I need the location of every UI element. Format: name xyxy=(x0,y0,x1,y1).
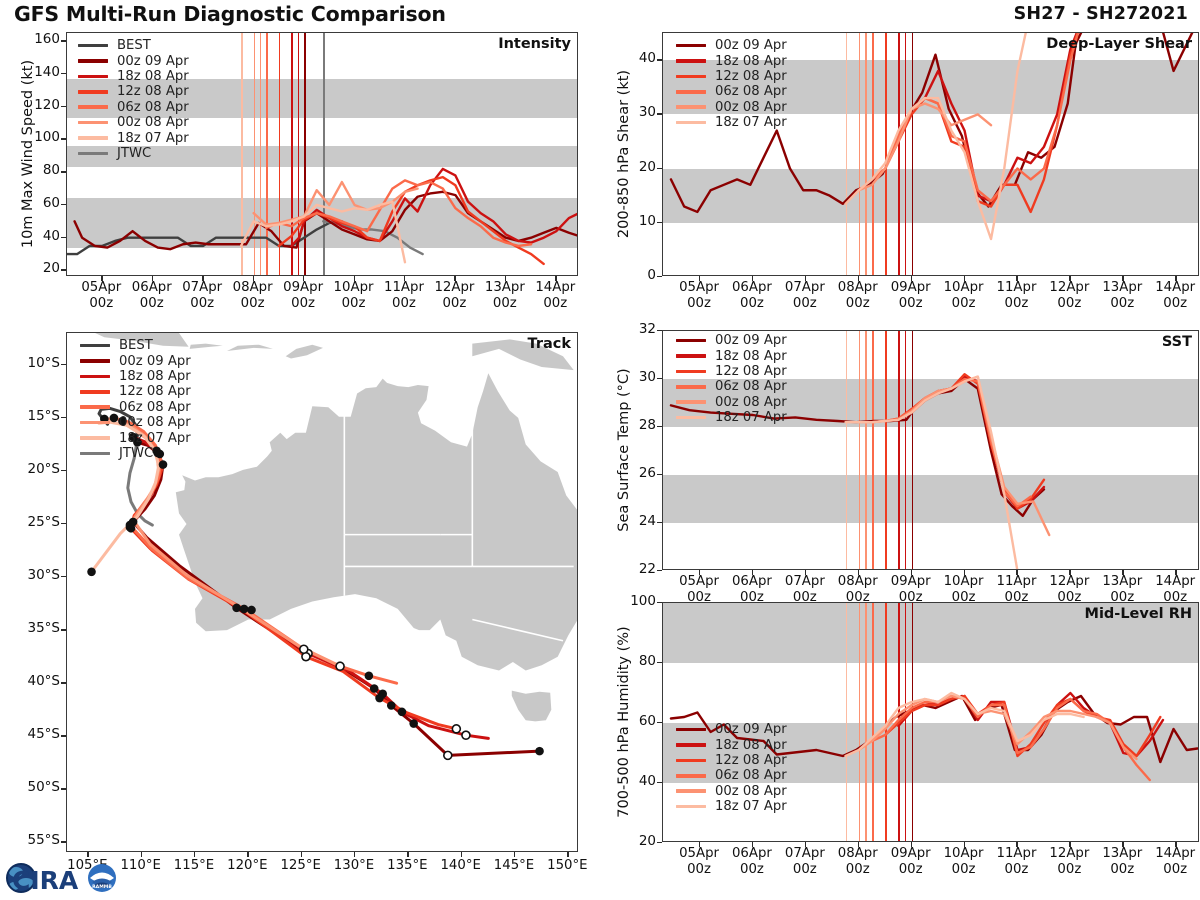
xtick-date: 11Apr xyxy=(997,846,1037,861)
xtick-hour: 00z xyxy=(342,296,366,311)
xtick-date: 12Apr xyxy=(1049,846,1089,861)
xtick-label: 14Apr00z xyxy=(1143,846,1200,878)
legend-label: 06z 08 Apr xyxy=(119,400,191,415)
ytick-mark xyxy=(61,40,66,41)
ytick-mark xyxy=(657,662,662,663)
legend-label: JTWC xyxy=(119,446,153,461)
legend-label: 18z 07 Apr xyxy=(119,431,191,446)
legend-shear: 00z 09 Apr18z 08 Apr12z 08 Apr06z 08 Apr… xyxy=(676,38,787,130)
legend-label: 06z 08 Apr xyxy=(117,100,189,115)
track-marker-open xyxy=(462,731,470,739)
xtick-mark xyxy=(858,276,859,281)
xtick-mark xyxy=(1175,842,1176,847)
xtick-mark xyxy=(752,276,753,281)
legend-item: 12z 08 Apr xyxy=(676,753,787,768)
legend-item: 12z 08 Apr xyxy=(80,384,191,399)
track-marker-filled xyxy=(535,747,544,756)
xtick-mark xyxy=(354,276,355,281)
legend-label: BEST xyxy=(117,38,151,53)
legend-swatch-18z-08-apr xyxy=(676,743,706,747)
landmass xyxy=(227,345,273,351)
lat-tick-mark xyxy=(61,576,66,577)
legend-label: 12z 08 Apr xyxy=(119,384,191,399)
legend-label: 00z 09 Apr xyxy=(715,38,787,53)
legend-item: 06z 08 Apr xyxy=(676,768,787,783)
xtick-date: 09Apr xyxy=(891,846,931,861)
legend-item: 12z 08 Apr xyxy=(676,364,787,379)
legend-track: BEST00z 09 Apr18z 08 Apr12z 08 Apr06z 08… xyxy=(80,338,191,461)
xtick-date: 09Apr xyxy=(891,280,931,295)
ytick-mark xyxy=(61,138,66,139)
xtick-hour: 00z xyxy=(687,862,711,877)
xtick-mark xyxy=(1069,570,1070,575)
legend-label: 12z 08 Apr xyxy=(117,84,189,99)
ytick-mark xyxy=(657,222,662,223)
legend-label: 00z 09 Apr xyxy=(117,54,189,69)
ytick-label: 80 xyxy=(22,162,60,178)
xtick-hour: 00z xyxy=(1005,296,1029,311)
xtick-date: 10Apr xyxy=(944,574,984,589)
xtick-hour: 00z xyxy=(442,296,466,311)
legend-swatch-18z-08-apr xyxy=(78,75,108,79)
legend-item: BEST xyxy=(78,38,189,53)
xtick-date: 09Apr xyxy=(891,574,931,589)
legend-label: 06z 08 Apr xyxy=(715,768,787,783)
xtick-date: 09Apr xyxy=(283,280,323,295)
xtick-date: 14Apr xyxy=(1155,846,1195,861)
ytick-label: 40 xyxy=(618,50,656,66)
xtick-hour: 00z xyxy=(952,862,976,877)
legend-rh: 00z 09 Apr18z 08 Apr12z 08 Apr06z 08 Apr… xyxy=(676,722,787,814)
xtick-hour: 00z xyxy=(1110,296,1134,311)
lat-tick-label: 40°S xyxy=(10,673,60,689)
track-marker-filled xyxy=(232,604,241,613)
panel-title-rh: Mid-Level RH xyxy=(1085,606,1192,622)
xtick-date: 10Apr xyxy=(944,846,984,861)
lon-tick-mark xyxy=(354,852,355,857)
lat-tick-mark xyxy=(61,364,66,365)
page-title: GFS Multi-Run Diagnostic Comparison xyxy=(14,2,446,26)
legend-label: 00z 09 Apr xyxy=(119,354,191,369)
legend-label: BEST xyxy=(119,338,153,353)
legend-label: 00z 09 Apr xyxy=(715,333,787,348)
legend-item: 12z 08 Apr xyxy=(676,69,787,84)
ytick-label: 60 xyxy=(618,713,656,729)
xtick-mark xyxy=(303,276,304,281)
xtick-mark xyxy=(253,276,254,281)
ytick-label: 20 xyxy=(22,260,60,276)
xtick-mark xyxy=(1069,276,1070,281)
panel-title-sst: SST xyxy=(1162,334,1192,350)
xtick-hour: 00z xyxy=(493,296,517,311)
legend-item: 00z 08 Apr xyxy=(676,395,787,410)
xtick-hour: 00z xyxy=(140,296,164,311)
xtick-hour: 00z xyxy=(1163,862,1187,877)
legend-item: 06z 08 Apr xyxy=(676,379,787,394)
lon-tick-mark xyxy=(141,852,142,857)
ytick-label: 30 xyxy=(618,369,656,385)
ytick-label: 26 xyxy=(618,465,656,481)
xtick-hour: 00z xyxy=(1110,862,1134,877)
lon-tick-label: 135°E xyxy=(377,858,437,874)
legend-swatch-12z-08-apr xyxy=(676,75,706,79)
legend-item: 00z 09 Apr xyxy=(78,53,189,68)
lat-tick-label: 50°S xyxy=(10,779,60,795)
ytick-label: 100 xyxy=(618,593,656,609)
legend-label: JTWC xyxy=(117,146,151,161)
xtick-hour: 00z xyxy=(793,862,817,877)
xtick-mark xyxy=(858,570,859,575)
legend-item: 18z 07 Apr xyxy=(80,430,191,445)
lon-tick-label: 125°E xyxy=(271,858,331,874)
xtick-mark xyxy=(964,570,965,575)
legend-label: 12z 08 Apr xyxy=(715,753,787,768)
legend-item: 00z 09 Apr xyxy=(676,38,787,53)
lon-tick-mark xyxy=(567,852,568,857)
legend-label: 00z 08 Apr xyxy=(119,415,191,430)
legend-item: 18z 08 Apr xyxy=(676,737,787,752)
ytick-mark xyxy=(657,59,662,60)
legend-swatch-18z-08-apr xyxy=(676,354,706,358)
track-marker-filled xyxy=(387,701,396,710)
ytick-mark xyxy=(61,73,66,74)
legend-swatch-18z-08-apr xyxy=(676,59,706,63)
ytick-mark xyxy=(61,237,66,238)
series-line-06z-08-apr xyxy=(872,33,1081,201)
legend-swatch-18z-07-apr xyxy=(78,136,108,140)
legend-item: 18z 08 Apr xyxy=(676,348,787,363)
xtick-mark xyxy=(202,276,203,281)
legend-item: 00z 08 Apr xyxy=(78,115,189,130)
track-marker-filled xyxy=(370,684,379,693)
lon-tick-label: 130°E xyxy=(324,858,384,874)
xtick-date: 06Apr xyxy=(732,280,772,295)
landmass xyxy=(512,691,552,722)
xtick-mark xyxy=(911,276,912,281)
legend-label: 06z 08 Apr xyxy=(715,84,787,99)
track-marker-filled xyxy=(365,671,374,680)
legend-item: 12z 08 Apr xyxy=(78,84,189,99)
legend-item: 18z 08 Apr xyxy=(676,53,787,68)
xtick-hour: 00z xyxy=(291,296,315,311)
lat-tick-label: 45°S xyxy=(10,726,60,742)
panel-title-shear: Deep-Layer Shear xyxy=(1046,36,1192,52)
legend-label: 18z 08 Apr xyxy=(715,349,787,364)
xtick-mark xyxy=(699,842,700,847)
legend-item: 06z 08 Apr xyxy=(80,400,191,415)
legend-item: 00z 08 Apr xyxy=(676,100,787,115)
landmass xyxy=(286,345,323,359)
xtick-date: 05Apr xyxy=(679,280,719,295)
ytick-mark xyxy=(657,168,662,169)
ytick-label: 24 xyxy=(618,513,656,529)
ytick-label: 20 xyxy=(618,159,656,175)
xtick-date: 08Apr xyxy=(233,280,273,295)
legend-label: 18z 07 Apr xyxy=(715,410,787,425)
legend-swatch-06z-08-apr xyxy=(676,774,706,778)
legend-swatch-18z-07-apr xyxy=(80,436,110,440)
ytick-label: 40 xyxy=(618,773,656,789)
xtick-mark xyxy=(858,842,859,847)
xtick-mark xyxy=(454,276,455,281)
panel-title-track: Track xyxy=(528,336,571,352)
lon-tick-mark xyxy=(194,852,195,857)
lat-tick-label: 30°S xyxy=(10,567,60,583)
xtick-hour: 00z xyxy=(1057,862,1081,877)
lat-tick-mark xyxy=(61,629,66,630)
xtick-mark xyxy=(752,570,753,575)
lat-tick-label: 55°S xyxy=(10,832,60,848)
xtick-hour: 00z xyxy=(543,296,567,311)
xtick-date: 05Apr xyxy=(679,846,719,861)
legend-label: 00z 09 Apr xyxy=(715,722,787,737)
lat-tick-mark xyxy=(61,682,66,683)
legend-label: 00z 08 Apr xyxy=(715,784,787,799)
ytick-mark xyxy=(657,570,662,571)
ytick-label: 100 xyxy=(22,129,60,145)
xtick-date: 06Apr xyxy=(732,574,772,589)
legend-item: 18z 07 Apr xyxy=(676,410,787,425)
xtick-hour: 00z xyxy=(899,296,923,311)
ytick-mark xyxy=(657,474,662,475)
legend-item: 18z 08 Apr xyxy=(80,369,191,384)
legend-item: 00z 08 Apr xyxy=(676,784,787,799)
xtick-date: 11Apr xyxy=(384,280,424,295)
series-line-00z-08-apr xyxy=(859,377,1049,535)
ytick-label: 160 xyxy=(22,31,60,47)
ytick-mark xyxy=(61,106,66,107)
ytick-mark xyxy=(657,842,662,843)
xtick-date: 08Apr xyxy=(838,574,878,589)
ytick-mark xyxy=(61,204,66,205)
xtick-date: 07Apr xyxy=(785,280,825,295)
track-marker-filled xyxy=(247,606,256,615)
lon-tick-mark xyxy=(87,852,88,857)
xtick-mark xyxy=(1069,842,1070,847)
svg-text:CIRA: CIRA xyxy=(12,866,79,895)
series-line-best xyxy=(67,221,342,254)
legend-swatch-best xyxy=(80,344,110,348)
ytick-mark xyxy=(657,522,662,523)
xtick-date: 10Apr xyxy=(334,280,374,295)
lon-tick-label: 120°E xyxy=(217,858,277,874)
legend-swatch-jtwc xyxy=(78,152,108,156)
track-marker-filled xyxy=(126,521,135,530)
legend-item: JTWC xyxy=(78,146,189,161)
xtick-mark xyxy=(404,276,405,281)
ytick-label: 30 xyxy=(618,104,656,120)
legend-swatch-00z-08-apr xyxy=(676,789,706,793)
xtick-date: 11Apr xyxy=(997,280,1037,295)
ylabel-shear: 200-850 hPa Shear (kt) xyxy=(616,32,632,276)
legend-label: 12z 08 Apr xyxy=(715,364,787,379)
xtick-label: 14Apr00z xyxy=(523,280,587,312)
legend-label: 00z 08 Apr xyxy=(715,395,787,410)
xtick-date: 10Apr xyxy=(944,280,984,295)
legend-swatch-00z-09-apr xyxy=(676,339,706,343)
xtick-hour: 00z xyxy=(190,296,214,311)
xtick-mark xyxy=(1122,842,1123,847)
xtick-mark xyxy=(1175,276,1176,281)
legend-swatch-06z-08-apr xyxy=(78,105,108,109)
legend-label: 18z 07 Apr xyxy=(715,115,787,130)
xtick-mark xyxy=(505,276,506,281)
xtick-hour: 00z xyxy=(1163,296,1187,311)
xtick-label: 14Apr00z xyxy=(1143,280,1200,312)
xtick-mark xyxy=(752,842,753,847)
legend-label: 18z 08 Apr xyxy=(715,54,787,69)
xtick-hour: 00z xyxy=(740,296,764,311)
xtick-mark xyxy=(805,570,806,575)
xtick-date: 13Apr xyxy=(1102,280,1142,295)
legend-item: 18z 07 Apr xyxy=(78,130,189,145)
lon-tick-label: 115°E xyxy=(164,858,224,874)
track-marker-open xyxy=(300,645,308,653)
ytick-label: 28 xyxy=(618,417,656,433)
lat-tick-mark xyxy=(61,841,66,842)
legend-label: 06z 08 Apr xyxy=(715,379,787,394)
lon-tick-mark xyxy=(301,852,302,857)
ytick-mark xyxy=(657,782,662,783)
xtick-hour: 00z xyxy=(1005,862,1029,877)
xtick-hour: 00z xyxy=(89,296,113,311)
xtick-mark xyxy=(1175,570,1176,575)
xtick-mark xyxy=(555,276,556,281)
xtick-mark xyxy=(152,276,153,281)
lon-tick-mark xyxy=(407,852,408,857)
lat-tick-mark xyxy=(61,523,66,524)
legend-label: 00z 08 Apr xyxy=(117,115,189,130)
track-marker-filled xyxy=(375,694,384,703)
xtick-mark xyxy=(911,842,912,847)
track-marker-open xyxy=(452,725,460,733)
xtick-mark xyxy=(1016,842,1017,847)
xtick-date: 12Apr xyxy=(434,280,474,295)
ytick-mark xyxy=(61,269,66,270)
xtick-mark xyxy=(1122,276,1123,281)
legend-swatch-best xyxy=(78,44,108,48)
series-line-18z-08-apr xyxy=(898,377,1043,509)
xtick-mark xyxy=(699,276,700,281)
xtick-date: 06Apr xyxy=(732,846,772,861)
ytick-label: 32 xyxy=(618,321,656,337)
ytick-mark xyxy=(657,113,662,114)
lon-tick-mark xyxy=(461,852,462,857)
ytick-mark xyxy=(61,171,66,172)
ytick-mark xyxy=(657,426,662,427)
xtick-date: 12Apr xyxy=(1049,574,1089,589)
legend-item: BEST xyxy=(80,338,191,353)
track-marker-filled xyxy=(87,567,96,576)
xtick-date: 13Apr xyxy=(485,280,525,295)
xtick-date: 14Apr xyxy=(535,280,575,295)
ytick-mark xyxy=(657,330,662,331)
xtick-hour: 00z xyxy=(899,862,923,877)
track-marker-filled xyxy=(240,605,249,614)
xtick-mark xyxy=(911,570,912,575)
legend-label: 18z 08 Apr xyxy=(119,369,191,384)
lat-tick-label: 15°S xyxy=(10,408,60,424)
legend-sst: 00z 09 Apr18z 08 Apr12z 08 Apr06z 08 Apr… xyxy=(676,333,787,425)
ytick-label: 0 xyxy=(618,267,656,283)
xtick-date: 05Apr xyxy=(81,280,121,295)
track-marker-filled xyxy=(159,460,168,469)
xtick-date: 13Apr xyxy=(1102,846,1142,861)
legend-swatch-jtwc xyxy=(80,452,110,456)
xtick-hour: 00z xyxy=(687,296,711,311)
legend-label: 18z 08 Apr xyxy=(715,738,787,753)
series-line-12z-08-apr xyxy=(885,374,1044,508)
series-line-06z-08-apr xyxy=(872,379,1031,506)
ytick-mark xyxy=(657,722,662,723)
landmass xyxy=(190,344,223,349)
legend-swatch-12z-08-apr xyxy=(78,90,108,94)
lon-tick-label: 140°E xyxy=(431,858,491,874)
xtick-mark xyxy=(964,842,965,847)
legend-swatch-06z-08-apr xyxy=(676,385,706,389)
rammb-badge-text: RAMMB xyxy=(92,884,112,890)
ytick-label: 140 xyxy=(22,64,60,80)
ytick-label: 22 xyxy=(618,561,656,577)
ytick-label: 60 xyxy=(22,195,60,211)
storm-id-label: SH27 - SH272021 xyxy=(1014,4,1188,24)
legend-swatch-00z-08-apr xyxy=(676,105,706,109)
xtick-date: 11Apr xyxy=(997,574,1037,589)
legend-item: 18z 08 Apr xyxy=(78,69,189,84)
xtick-mark xyxy=(101,276,102,281)
legend-swatch-00z-09-apr xyxy=(78,59,108,63)
xtick-date: 14Apr xyxy=(1155,574,1195,589)
legend-label: 12z 08 Apr xyxy=(715,69,787,84)
track-marker-filled xyxy=(398,708,407,717)
legend-item: 00z 08 Apr xyxy=(80,415,191,430)
xtick-hour: 00z xyxy=(846,862,870,877)
xtick-hour: 00z xyxy=(952,296,976,311)
ytick-mark xyxy=(657,378,662,379)
legend-swatch-12z-08-apr xyxy=(676,759,706,763)
cira-logo: CIRA RAMMB xyxy=(4,858,126,898)
series-line-12z-08-apr xyxy=(885,33,1081,212)
track-marker-open xyxy=(336,662,344,670)
legend-item: 18z 07 Apr xyxy=(676,115,787,130)
xtick-mark xyxy=(964,276,965,281)
ytick-label: 40 xyxy=(22,228,60,244)
legend-swatch-00z-08-apr xyxy=(78,121,108,125)
xtick-date: 08Apr xyxy=(838,846,878,861)
xtick-mark xyxy=(1016,276,1017,281)
legend-swatch-00z-09-apr xyxy=(676,728,706,732)
legend-label: 00z 08 Apr xyxy=(715,100,787,115)
lon-tick-mark xyxy=(247,852,248,857)
xtick-date: 07Apr xyxy=(785,574,825,589)
lon-tick-label: 145°E xyxy=(484,858,544,874)
legend-item: 00z 09 Apr xyxy=(80,353,191,368)
xtick-hour: 00z xyxy=(793,296,817,311)
legend-label: 18z 07 Apr xyxy=(117,131,189,146)
ytick-label: 20 xyxy=(618,833,656,849)
legend-swatch-18z-07-apr xyxy=(676,121,706,125)
xtick-mark xyxy=(805,276,806,281)
xtick-hour: 00z xyxy=(392,296,416,311)
legend-swatch-06z-08-apr xyxy=(676,90,706,94)
xtick-date: 13Apr xyxy=(1102,574,1142,589)
legend-item: 00z 09 Apr xyxy=(676,333,787,348)
ylabel-sst: Sea Surface Temp (°C) xyxy=(616,330,632,570)
legend-swatch-00z-09-apr xyxy=(676,44,706,48)
legend-label: 18z 07 Apr xyxy=(715,799,787,814)
xtick-hour: 00z xyxy=(846,296,870,311)
lat-tick-label: 10°S xyxy=(10,355,60,371)
